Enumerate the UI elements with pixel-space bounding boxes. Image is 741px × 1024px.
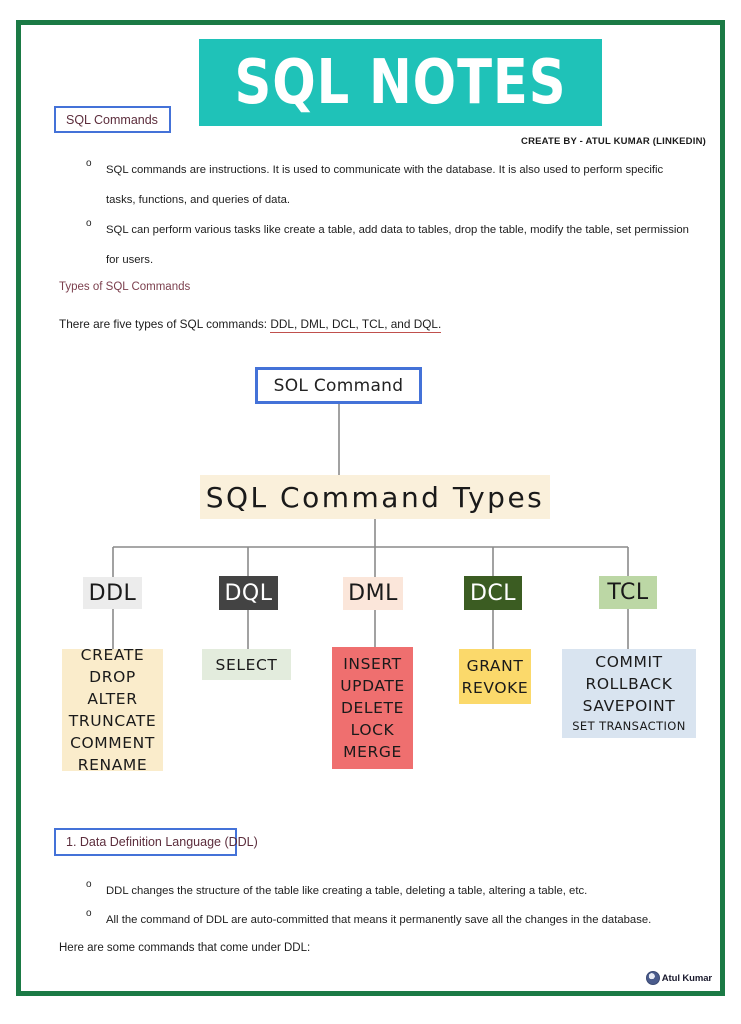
command-item: ROLLBACK — [586, 673, 673, 695]
diagram-category-tcl: TCL — [599, 576, 657, 609]
five-types-highlight: DDL, DML, DCL, TCL, and DQL. — [270, 317, 441, 333]
diagram-category-ddl: DDL — [83, 577, 142, 609]
command-item: CREATE — [81, 644, 145, 666]
command-item: TRUNCATE — [69, 710, 156, 732]
types-heading: Types of SQL Commands — [59, 281, 190, 293]
section-label-ddl-text: 1. Data Definition Language (DDL) — [66, 835, 258, 849]
bullet-marker: o — [84, 155, 106, 172]
command-item: COMMIT — [595, 651, 662, 673]
diagram-category-dml-label: DML — [348, 581, 398, 606]
diagram-category-dcl: DCL — [464, 576, 522, 610]
diagram-commands-tcl: COMMIT ROLLBACK SAVEPOINT SET TRANSACTIO… — [562, 649, 696, 738]
diagram-commands-ddl: CREATE DROP ALTER TRUNCATE COMMENT RENAM… — [62, 649, 163, 771]
command-item: RENAME — [78, 754, 148, 776]
diagram-category-dcl-label: DCL — [470, 581, 516, 606]
footer-logo-name: Atul Kumar — [662, 973, 712, 984]
bullet-marker: o — [84, 215, 106, 232]
command-item: SELECT — [216, 654, 278, 676]
diagram-commands-dml: INSERT UPDATE DELETE LOCK MERGE — [332, 647, 413, 769]
bullet-marker: o — [84, 876, 106, 893]
command-item: MERGE — [343, 741, 402, 763]
ddl-closing-line: Here are some commands that come under D… — [59, 942, 310, 954]
diagram-category-dml: DML — [343, 577, 403, 610]
bullet-text: All the command of DDL are auto-committe… — [106, 905, 651, 935]
diagram-category-ddl-label: DDL — [89, 581, 137, 606]
diagram-root-box: SOL Command — [255, 367, 422, 404]
diagram-root-label: SOL Command — [274, 376, 404, 396]
sql-command-types-diagram: SOL Command SQL Command Types DDL CREATE… — [21, 355, 720, 795]
command-item: GRANT — [467, 655, 524, 677]
page-content: SQL NOTES CREATE BY - ATUL KUMAR (LINKED… — [21, 25, 720, 991]
diagram-types-banner: SQL Command Types — [200, 475, 550, 519]
diagram-category-dql-label: DQL — [224, 581, 272, 606]
bullet-text: SQL commands are instructions. It is use… — [106, 155, 694, 215]
command-item: SAVEPOINT — [583, 695, 676, 717]
command-item: REVOKE — [462, 677, 529, 699]
list-item: o DDL changes the structure of the table… — [84, 876, 694, 906]
command-item: INSERT — [343, 653, 402, 675]
user-avatar-icon — [646, 971, 660, 985]
page-title: SQL NOTES — [234, 52, 566, 114]
author-credit: CREATE BY - ATUL KUMAR (LINKEDIN) — [21, 136, 706, 147]
command-item: COMMENT — [70, 732, 155, 754]
command-item: ALTER — [87, 688, 137, 710]
title-banner: SQL NOTES — [199, 39, 602, 126]
command-item-small: SET TRANSACTION — [572, 717, 686, 736]
bullet-text: SQL can perform various tasks like creat… — [106, 215, 694, 275]
five-types-prefix: There are five types of SQL commands: — [59, 317, 270, 331]
section-label-ddl: 1. Data Definition Language (DDL) — [54, 828, 237, 856]
section-label-sql-commands-text: SQL Commands — [66, 113, 158, 127]
five-types-sentence: There are five types of SQL commands: DD… — [59, 317, 441, 331]
page-border-frame: SQL NOTES CREATE BY - ATUL KUMAR (LINKED… — [16, 20, 725, 996]
command-item: DROP — [89, 666, 136, 688]
diagram-commands-dcl: GRANT REVOKE — [459, 649, 531, 704]
command-item: LOCK — [351, 719, 395, 741]
list-item: o All the command of DDL are auto-commit… — [84, 905, 694, 935]
list-item: o SQL commands are instructions. It is u… — [84, 155, 694, 215]
bullet-marker: o — [84, 905, 106, 922]
bullet-text: DDL changes the structure of the table l… — [106, 876, 587, 906]
command-item: UPDATE — [340, 675, 405, 697]
footer-logo: Atul Kumar — [646, 971, 712, 985]
diagram-category-tcl-label: TCL — [607, 580, 648, 605]
diagram-category-dql: DQL — [219, 576, 278, 610]
diagram-types-label: SQL Command Types — [206, 481, 545, 514]
section-label-sql-commands: SQL Commands — [54, 106, 171, 133]
diagram-commands-dql: SELECT — [202, 649, 291, 680]
list-item: o SQL can perform various tasks like cre… — [84, 215, 694, 275]
command-item: DELETE — [341, 697, 404, 719]
